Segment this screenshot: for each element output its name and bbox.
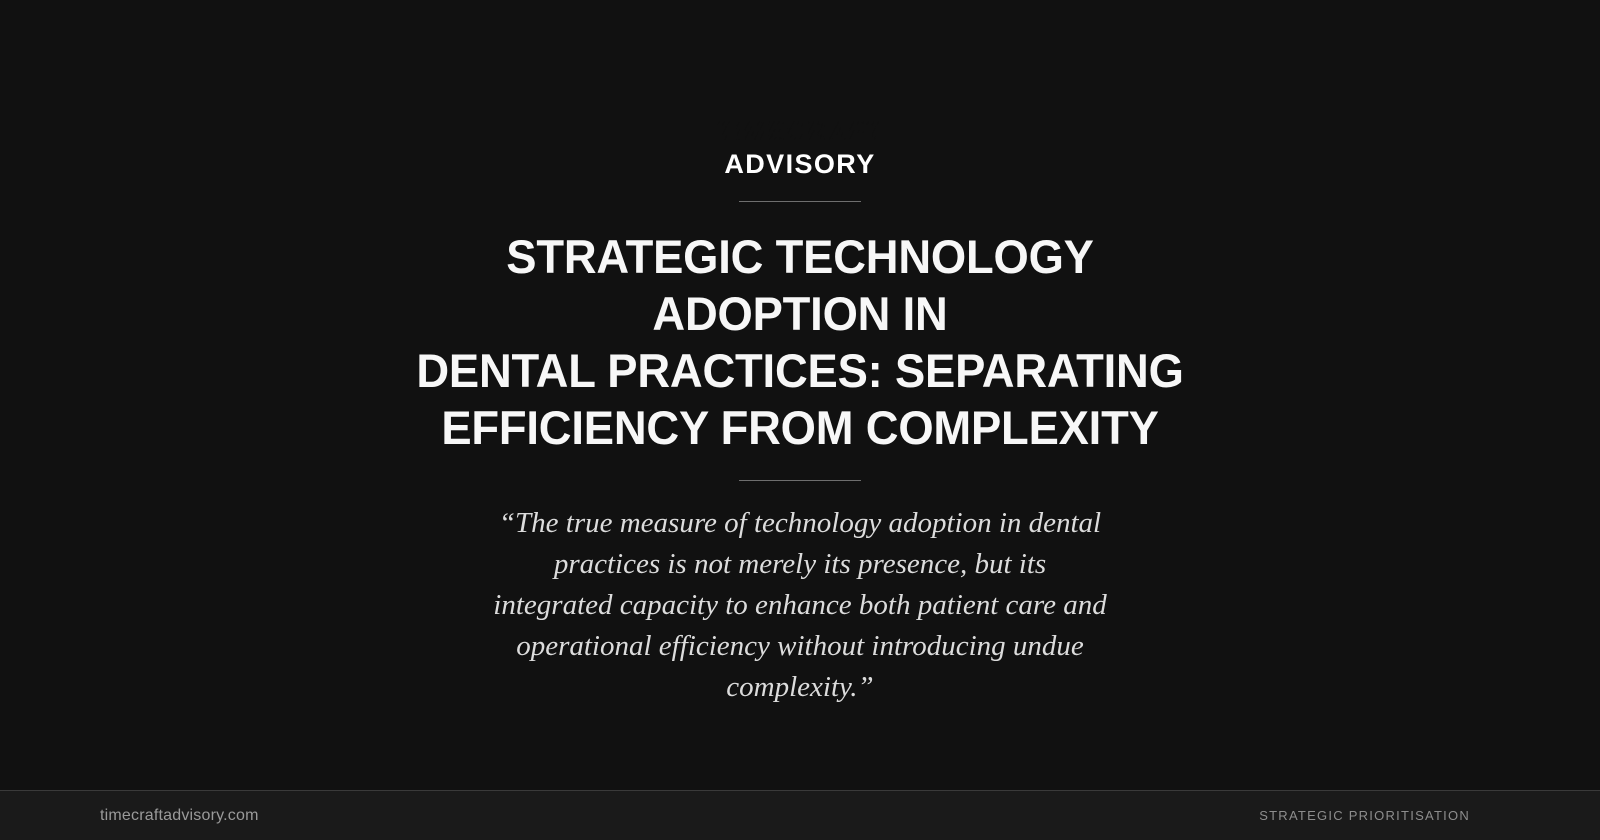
- page-title-line-1: STRATEGIC TECHNOLOGY ADOPTION IN: [385, 228, 1215, 342]
- pull-quote-line-3: integrated capacity to enhance both pati…: [460, 585, 1140, 626]
- page-title-line-2: DENTAL PRACTICES: SEPARATING: [385, 342, 1215, 399]
- page-title-line-3: EFFICIENCY FROM COMPLEXITY: [385, 399, 1215, 456]
- footer-section-label: STRATEGIC PRIORITISATION: [1259, 808, 1500, 823]
- divider-below-title: [739, 480, 861, 481]
- pull-quote-line-5: complexity.”: [460, 667, 1140, 708]
- pull-quote-line-2: practices is not merely its presence, bu…: [460, 544, 1140, 585]
- page-title: STRATEGIC TECHNOLOGY ADOPTION IN DENTAL …: [385, 228, 1215, 456]
- logo-wordmark-secondary: ADVISORY: [724, 151, 875, 178]
- pull-quote-line-4: operational efficiency without introduci…: [460, 626, 1140, 667]
- divider-below-logo: [739, 201, 861, 202]
- brand-logo: TIMECRAFT ADVISORY: [717, 118, 884, 178]
- logo-wordmark-primary: TIMECRAFT: [717, 118, 884, 145]
- slide-footer: timecraftadvisory.com STRATEGIC PRIORITI…: [0, 790, 1600, 840]
- pull-quote-line-1: “The true measure of technology adoption…: [460, 503, 1140, 544]
- title-slide: TIMECRAFT ADVISORY STRATEGIC TECHNOLOGY …: [0, 0, 1600, 840]
- footer-website-link[interactable]: timecraftadvisory.com: [100, 807, 259, 825]
- pull-quote: “The true measure of technology adoption…: [460, 503, 1140, 708]
